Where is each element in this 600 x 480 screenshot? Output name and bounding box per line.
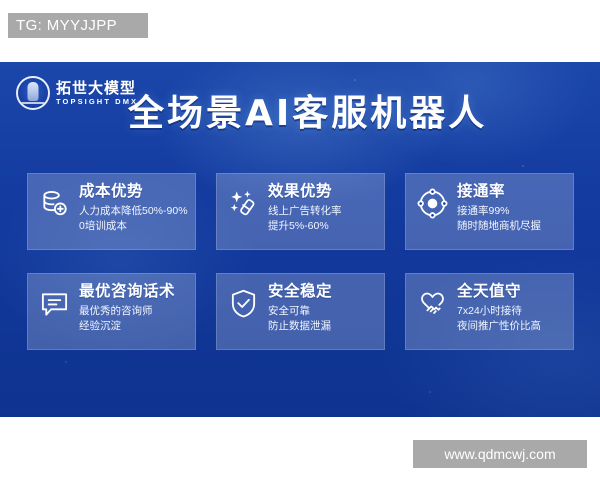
feature-card-body: 效果优势 线上广告转化率 提升5%-60% <box>268 183 342 233</box>
feature-card: 最优咨询话术 最优秀的咨询师 经验沉淀 <box>27 273 196 350</box>
feature-card-title: 效果优势 <box>268 183 342 200</box>
tg-overlay-badge: TG: MYYJJPP <box>8 13 148 38</box>
feature-card-line-1: 人力成本降低50%-90% <box>79 204 187 218</box>
feature-card-title: 全天值守 <box>457 283 541 300</box>
circular-emblem-icon <box>16 76 50 110</box>
brand-name-cn: 拓世大模型 <box>56 81 138 96</box>
feature-card-line-2: 经验沉淀 <box>79 319 175 333</box>
shield-check-icon <box>227 287 260 320</box>
promo-poster: 拓世大模型 TOPSIGHT DMX 全场景AI客服机器人 成本优势 <box>0 62 600 417</box>
page-root: TG: MYYJJPP 拓世大模型 TOPSIGHT DMX 全场景AI客服机器… <box>0 0 600 480</box>
brand-name-en: TOPSIGHT DMX <box>56 98 138 106</box>
feature-card-title: 接通率 <box>457 183 541 200</box>
feature-card-line-1: 接通率99% <box>457 204 541 218</box>
brand-lockup: 拓世大模型 TOPSIGHT DMX <box>16 76 138 110</box>
feature-card-title: 安全稳定 <box>268 283 332 300</box>
page-title: 全场景AI客服机器人 <box>128 84 528 136</box>
feature-card-line-2: 随时随地商机尽握 <box>457 219 541 233</box>
feature-card: 全天值守 7x24小时接待 夜间推广性价比高 <box>405 273 574 350</box>
handshake-icon <box>416 287 449 320</box>
feature-card-line-1: 安全可靠 <box>268 304 332 318</box>
feature-card-body: 成本优势 人力成本降低50%-90% 0培训成本 <box>79 183 187 233</box>
feature-card: 接通率 接通率99% 随时随地商机尽握 <box>405 173 574 250</box>
feature-card-line-2: 夜间推广性价比高 <box>457 319 541 333</box>
speech-bubble-icon <box>38 287 71 320</box>
tg-overlay-label: TG: MYYJJPP <box>16 17 117 34</box>
feature-card-title: 最优咨询话术 <box>79 283 175 300</box>
feature-card-title: 成本优势 <box>79 183 187 200</box>
feature-card-line-2: 提升5%-60% <box>268 219 342 233</box>
site-watermark-label: www.qdmcwj.com <box>444 446 555 462</box>
sparkle-wand-icon <box>227 187 260 220</box>
site-watermark: www.qdmcwj.com <box>413 440 587 468</box>
feature-card-body: 最优咨询话术 最优秀的咨询师 经验沉淀 <box>79 283 175 333</box>
feature-card: 效果优势 线上广告转化率 提升5%-60% <box>216 173 385 250</box>
feature-card-line-1: 7x24小时接待 <box>457 304 541 318</box>
network-node-circle-icon <box>416 187 449 220</box>
feature-card-line-2: 0培训成本 <box>79 219 187 233</box>
feature-card-body: 接通率 接通率99% 随时随地商机尽握 <box>457 183 541 233</box>
feature-card: 安全稳定 安全可靠 防止数据泄漏 <box>216 273 385 350</box>
feature-card-body: 安全稳定 安全可靠 防止数据泄漏 <box>268 283 332 333</box>
feature-card-body: 全天值守 7x24小时接待 夜间推广性价比高 <box>457 283 541 333</box>
feature-card-grid: 成本优势 人力成本降低50%-90% 0培训成本 效果优势 <box>27 173 573 350</box>
brand-text: 拓世大模型 TOPSIGHT DMX <box>56 81 138 106</box>
database-plus-icon <box>38 187 71 220</box>
feature-card-line-1: 最优秀的咨询师 <box>79 304 175 318</box>
feature-card: 成本优势 人力成本降低50%-90% 0培训成本 <box>27 173 196 250</box>
feature-card-line-1: 线上广告转化率 <box>268 204 342 218</box>
feature-card-line-2: 防止数据泄漏 <box>268 319 332 333</box>
